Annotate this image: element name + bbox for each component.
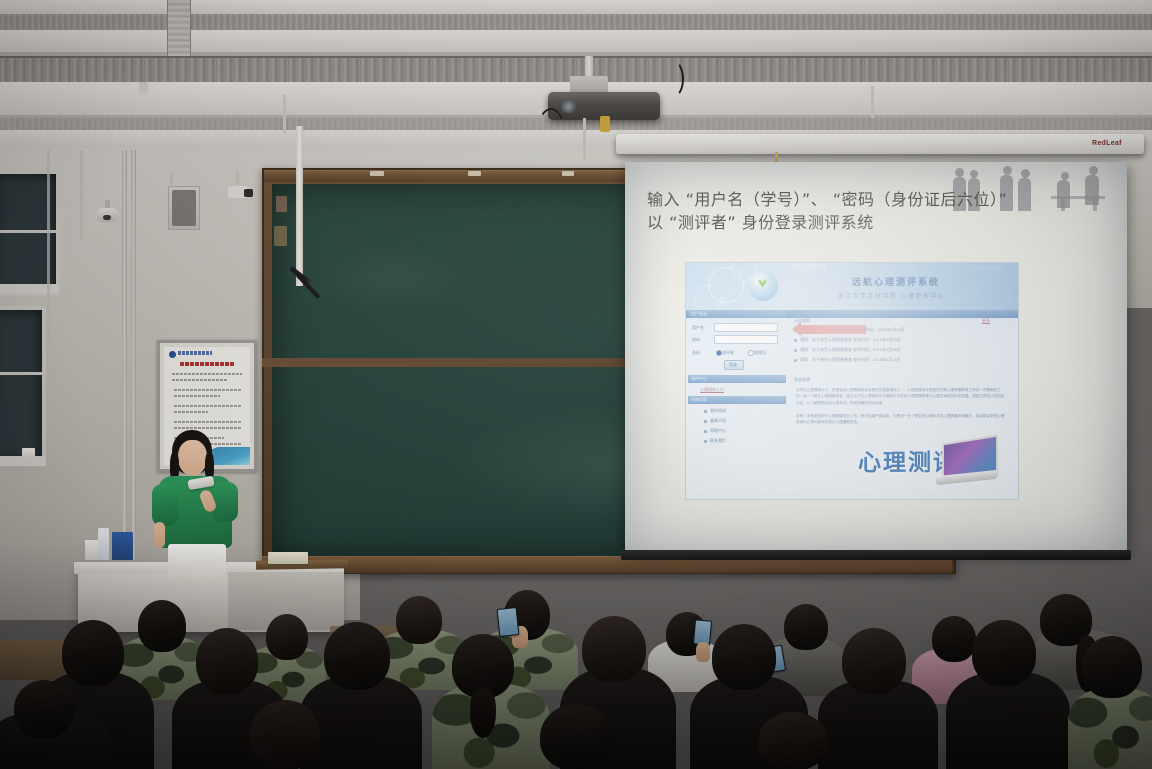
role-label: 身份 <box>692 350 700 356</box>
audience-head <box>250 700 320 769</box>
sidebar-section-2-title: 系统导航 <box>691 397 707 403</box>
blue-box <box>112 532 133 560</box>
papers-on-desk <box>268 552 308 564</box>
audience-head <box>842 628 906 694</box>
website-header-title: 远航心理测评系统 <box>852 275 940 288</box>
sidebar-item-2[interactable]: 量表介绍 <box>710 418 726 424</box>
audience-head <box>540 704 612 769</box>
ceiling-hanger-1 <box>283 95 286 133</box>
wall-conduit-2 <box>131 150 136 560</box>
audience-shoulders <box>946 672 1070 769</box>
content-title: 系统说明 <box>794 377 810 383</box>
water-bottle <box>98 528 109 560</box>
audience-head <box>972 620 1036 686</box>
login-button-label[interactable]: 登录 <box>729 362 737 368</box>
sidebar-section-2: 系统导航 <box>688 396 786 404</box>
website-nav-tab[interactable]: 首页 > 公告通知列表 <box>790 264 827 270</box>
slide-title-line2: 以 “测评者” 身份登录测评系统 <box>647 211 1067 234</box>
login-panel-title: 用户登录 <box>691 311 707 317</box>
role-label-assessor[interactable]: 测评者 <box>722 350 734 356</box>
presenter-arm-left <box>154 522 165 548</box>
presenter-skirt <box>168 544 226 582</box>
wall-conduit-3 <box>47 150 50 380</box>
content-paragraph-2: 说明：本系统仅用于心理健康测评工作，测评结果严格保密。如需进一步了解自身心理状况… <box>796 413 1008 426</box>
audience-head <box>62 620 124 686</box>
notice-board-title <box>180 362 234 366</box>
sidebar-section-1: 测评中心 <box>688 375 786 383</box>
audience-head <box>582 616 646 682</box>
raised-hand <box>696 642 710 662</box>
university-logo-icon <box>169 351 176 358</box>
audience-head <box>14 680 74 738</box>
audience-head <box>932 616 976 662</box>
wall-speaker <box>168 186 200 230</box>
audience-shoulders <box>1068 688 1152 769</box>
window-lower <box>0 306 46 466</box>
screen-case[interactable] <box>616 134 1144 154</box>
audience-head <box>138 600 186 652</box>
username-input[interactable] <box>714 323 778 332</box>
sidebar-item-1[interactable]: 测评须知 <box>710 408 726 414</box>
projection-screen[interactable]: 输入 “用户名（学号）”、 “密码（身份证后六位）” 以 “测评者” 身份登录测… <box>625 162 1127 552</box>
window-upper <box>0 170 60 296</box>
audience-head <box>396 596 442 644</box>
wall-conduit-1 <box>122 150 127 560</box>
screen-brand-logo: RedLeaf <box>1092 140 1122 147</box>
white-box <box>85 540 98 560</box>
dome-camera-icon <box>96 200 120 224</box>
security-camera-icon <box>228 182 256 200</box>
slide-content: 输入 “用户名（学号）”、 “密码（身份证后六位）” 以 “测评者” 身份登录测… <box>625 162 1127 552</box>
notice-item-2[interactable]: 通知：关于新生心理健康普查 发布时间：2015年1月20日 <box>800 337 901 343</box>
presenter-face <box>178 440 207 476</box>
lecture-hall-photo: RedLeaf <box>0 0 1152 769</box>
wall-conduit-4 <box>80 150 83 240</box>
projector-connector <box>600 116 610 132</box>
projector-lens-icon <box>560 100 577 113</box>
window-object <box>22 448 35 457</box>
ceiling-hanger-2 <box>871 86 874 118</box>
content-paragraph-1: 大学生心理健康水平，是衡量其心理素质和综合素质的重要指标之一。心理健康测评是高校… <box>796 387 1008 406</box>
presenter-sleeve-left <box>152 484 178 526</box>
presenter-sleeve-right <box>212 482 238 522</box>
screen-bottom-bar <box>621 550 1131 560</box>
password-input[interactable] <box>714 335 778 344</box>
microphone-stand <box>296 126 303 286</box>
phone-device[interactable] <box>497 607 520 637</box>
notice-more-link[interactable]: 更多 <box>982 318 990 324</box>
username-label: 用户名 <box>692 325 704 331</box>
audience-head <box>266 614 308 660</box>
audience-head <box>324 622 390 690</box>
audience-head <box>712 624 776 690</box>
audience-head <box>196 628 258 694</box>
audience-head <box>1082 636 1142 698</box>
vertical-duct <box>167 0 191 58</box>
notice-item-3[interactable]: 通知：关于新生心理健康普查 发布时间：2015年1月18日 <box>800 347 901 353</box>
role-label-admin[interactable]: 管理员 <box>754 350 766 356</box>
sidebar-item-4[interactable]: 联系我们 <box>710 438 726 444</box>
sprinkler-head <box>139 82 148 95</box>
presenter <box>150 430 260 590</box>
website-header-subtitle: 浙江大学文村学院·心理咨询中心 <box>838 291 945 300</box>
ponytail <box>470 688 496 738</box>
audience-head <box>758 712 828 769</box>
laptop-image <box>936 439 1006 491</box>
slide-title: 输入 “用户名（学号）”、 “密码（身份证后六位）” 以 “测评者” 身份登录测… <box>647 188 1067 234</box>
sidebar-link-assessment[interactable]: 心理测评入口 <box>700 387 724 393</box>
login-panel-header: 用户登录 <box>688 310 786 318</box>
audience-head <box>784 604 828 650</box>
password-label: 密码 <box>692 337 700 343</box>
notice-item-4[interactable]: 通知：关于新生心理健康普查 发布时间：2015年1月15日 <box>800 357 901 363</box>
website-screenshot: 远航心理测评系统 浙江大学文村学院·心理咨询中心 首页 > 公告通知列表 用户登… <box>685 262 1019 500</box>
sidebar-item-3[interactable]: 帮助中心 <box>710 428 726 434</box>
window-sill-lower <box>0 456 46 466</box>
slide-title-line1: 输入 “用户名（学号）”、 “密码（身份证后六位）” <box>647 188 1067 211</box>
red-arrow-annotation <box>800 325 866 334</box>
sidebar-section-1-title: 测评中心 <box>691 376 707 382</box>
